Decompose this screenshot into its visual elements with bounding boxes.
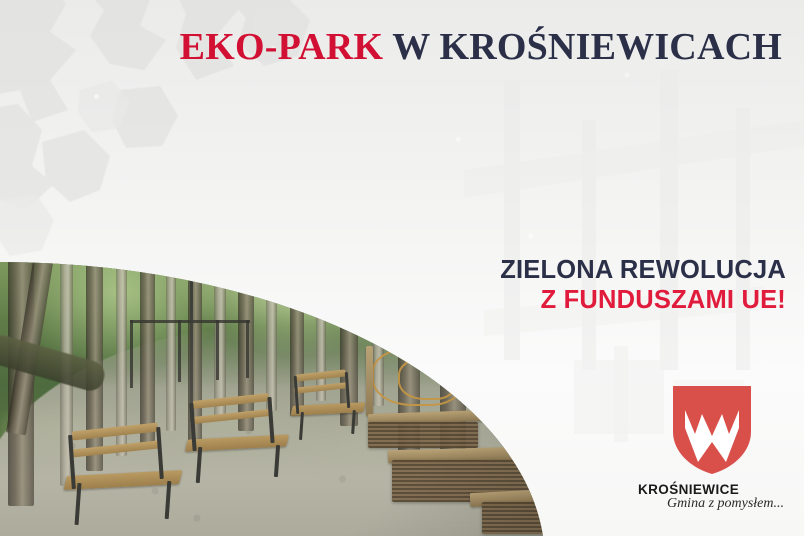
page-title-accent: EKO-PARK <box>180 26 384 68</box>
municipality-tagline: Gmina z pomysłem... <box>636 496 788 512</box>
page-title: EKO-PARK W KROŚNIEWICACH <box>0 28 782 68</box>
bench-seat <box>64 470 183 490</box>
bench-leg <box>299 412 304 440</box>
tree-trunk <box>166 262 176 431</box>
municipality-logo[interactable]: KROŚNIEWICE Gmina z pomysłem... <box>636 384 788 512</box>
park-bench <box>185 397 305 487</box>
page-title-rest: W KROŚNIEWICACH <box>383 26 782 68</box>
bench-backrest <box>70 440 160 457</box>
pergola-post <box>246 320 249 378</box>
bench-backrest <box>191 409 271 424</box>
subtitle-line-2: Z FUNDUSZAMI UE! <box>500 285 786 315</box>
municipality-name: KROŚNIEWICE <box>636 482 788 497</box>
park-bench <box>62 427 192 527</box>
poster-canvas: EKO-PARK W KROŚNIEWICACH ZIELONA REWOLUC… <box>0 0 804 536</box>
wooden-post <box>366 346 373 416</box>
coat-of-arms-shield-icon <box>671 384 753 476</box>
bench-backrest <box>296 369 346 381</box>
pergola-post <box>130 320 133 388</box>
bench-leg <box>351 410 356 434</box>
subtitle-line-1: ZIELONA REWOLUCJA <box>500 255 786 285</box>
pergola-post <box>178 320 181 382</box>
bench-leg <box>196 447 203 483</box>
woven-wicker-wall <box>368 422 478 448</box>
subtitle-block: ZIELONA REWOLUCJA Z FUNDUSZAMI UE! <box>500 255 786 315</box>
tree-trunk <box>140 262 155 446</box>
bench-backrest <box>294 382 348 394</box>
pergola-post <box>216 320 219 380</box>
bench-leg <box>165 481 172 519</box>
bench-leg <box>274 445 280 477</box>
